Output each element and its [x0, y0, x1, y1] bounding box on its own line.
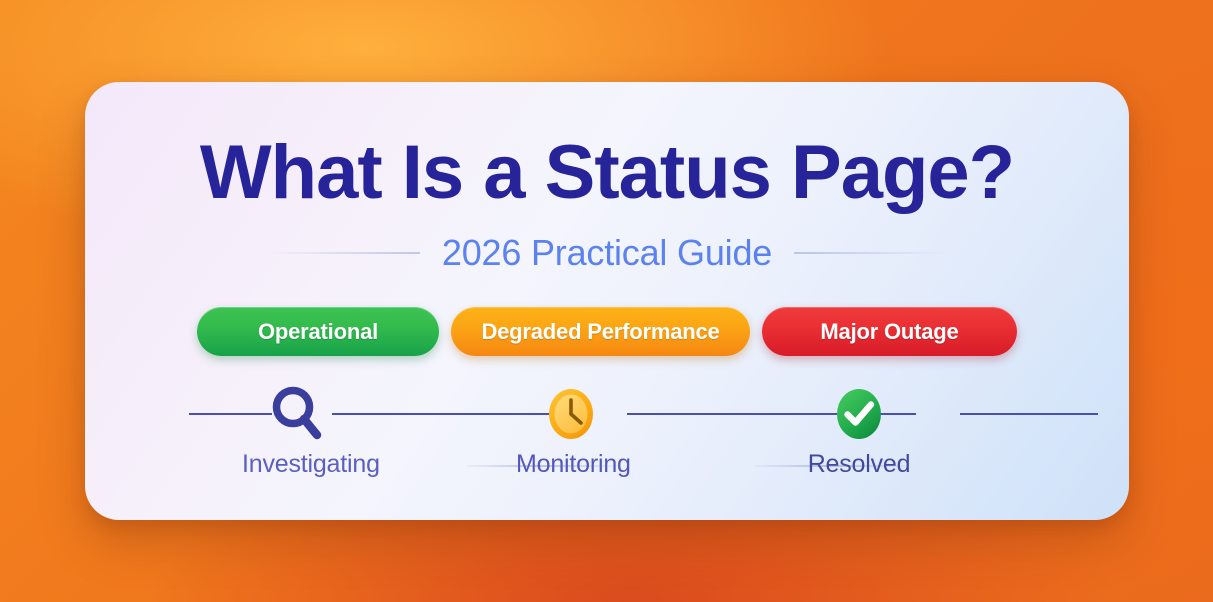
timeline-stage-label-investigating: Investigating [242, 450, 352, 479]
check-circle-icon [804, 382, 914, 446]
magnifier-icon [242, 382, 352, 446]
status-pill-operational[interactable]: Operational [197, 307, 439, 356]
timeline-stage-label-resolved: Resolved [804, 450, 914, 479]
clock-icon [516, 382, 626, 446]
status-page-card: What Is a Status Page? 2026 Practical Gu… [85, 82, 1129, 520]
status-pill-major-outage[interactable]: Major Outage [762, 307, 1017, 356]
timeline-stage-investigating[interactable]: Investigating [242, 382, 352, 479]
subtitle-row: 2026 Practical Guide [85, 232, 1129, 274]
timeline-stage-resolved[interactable]: Resolved [804, 382, 914, 479]
status-pill-degraded-performance[interactable]: Degraded Performance [451, 307, 750, 356]
status-pill-group: Operational Degraded Performance Major O… [85, 307, 1129, 356]
subtitle-rule-right [794, 252, 946, 254]
page-title: What Is a Status Page? [85, 129, 1129, 216]
timeline-stage-label-monitoring: Monitoring [516, 450, 626, 479]
incident-timeline: Investigating [189, 382, 1029, 492]
page-subtitle: 2026 Practical Guide [442, 232, 772, 274]
timeline-stage-monitoring[interactable]: Monitoring [516, 382, 626, 479]
timeline-segment-end [960, 413, 1098, 415]
subtitle-rule-left [268, 252, 420, 254]
